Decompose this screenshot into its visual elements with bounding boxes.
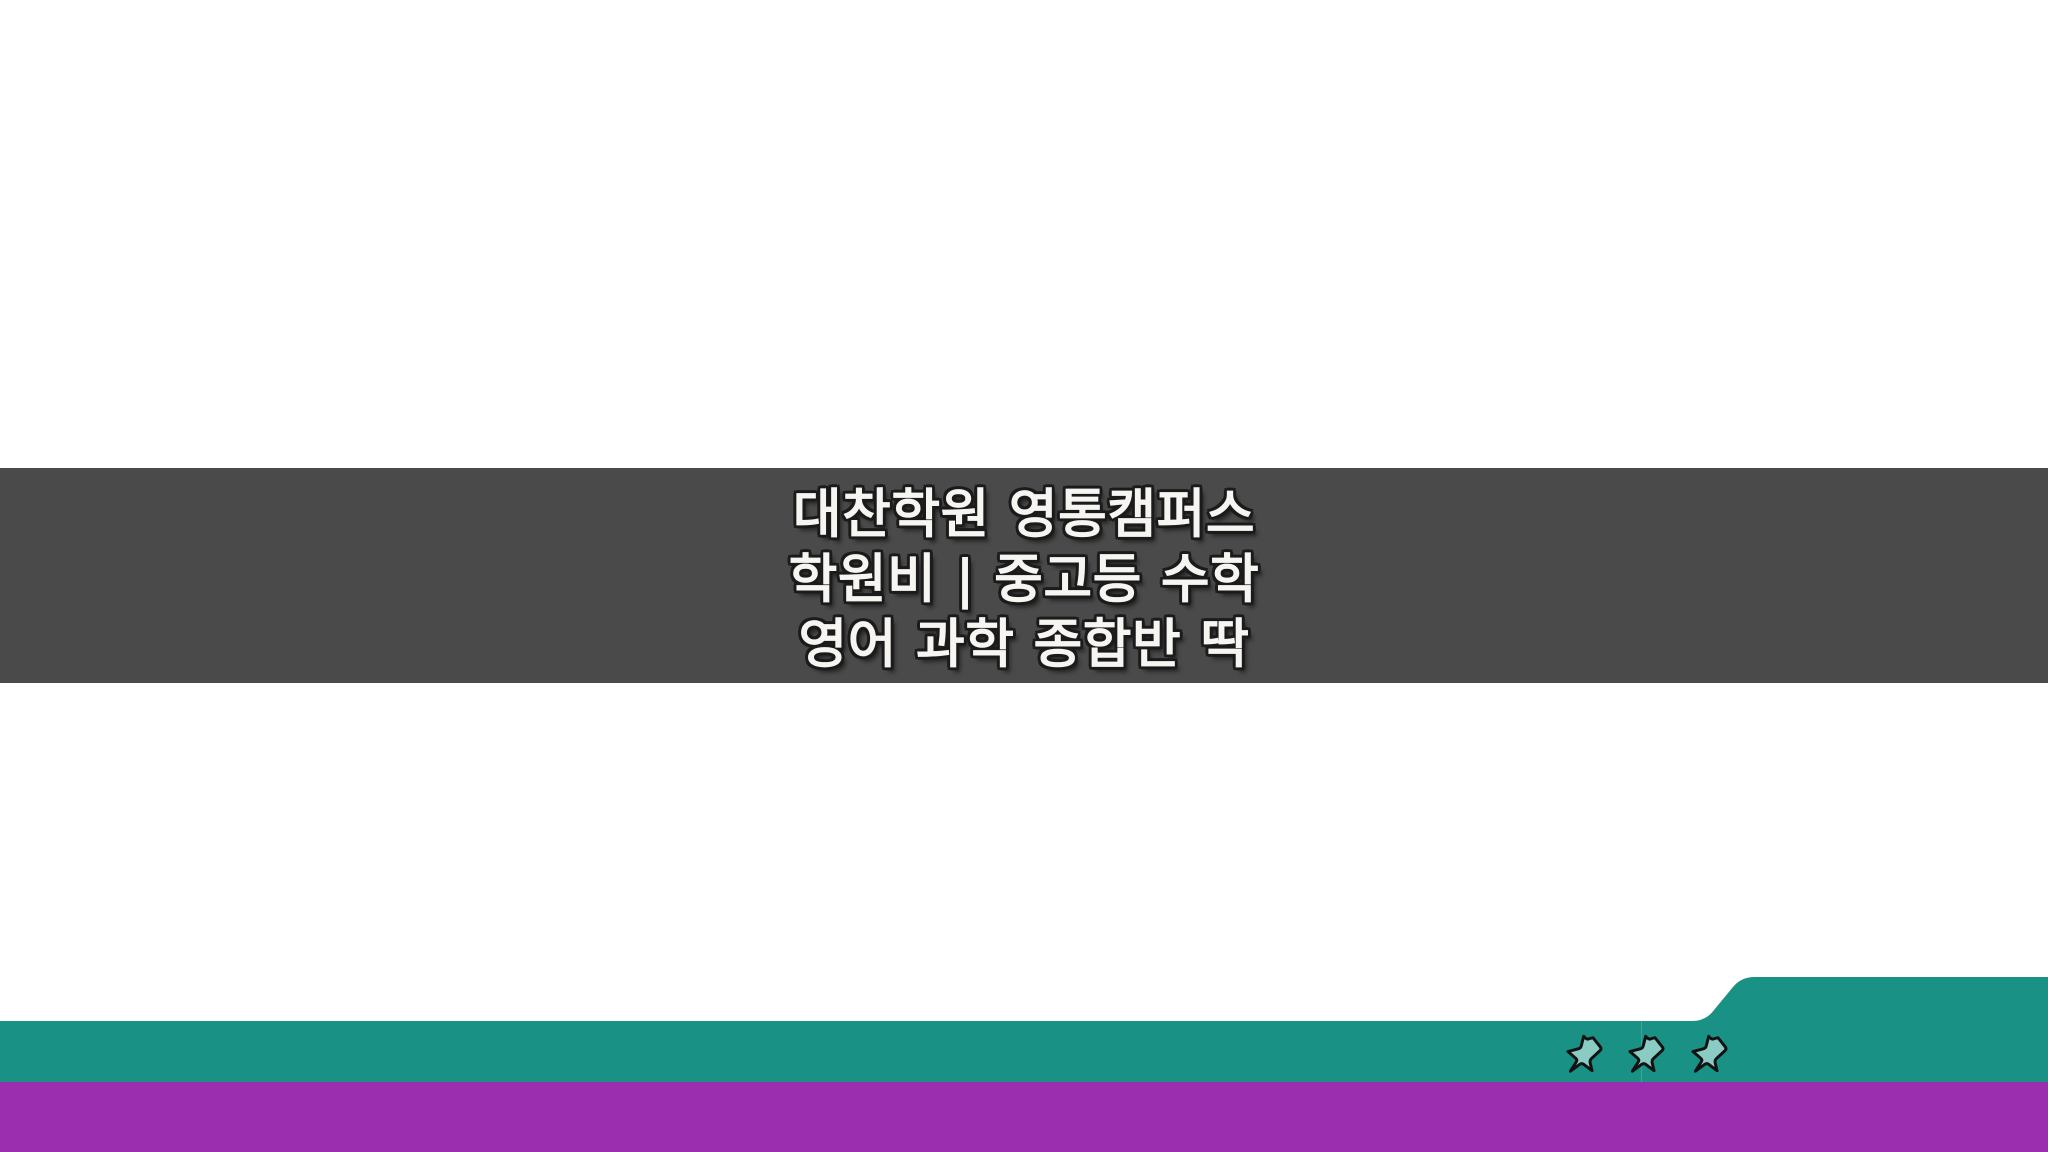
purple-accent-band [0,1082,2048,1152]
title-line-3: 영어 과학 종합반 딱 [0,612,2048,677]
title-line-1: 대찬학원 영통캠퍼스 [0,482,2048,547]
sparkle-icon-row [1563,1030,1731,1076]
sparkle-icon [1563,1031,1606,1075]
sparkle-icon [1625,1031,1668,1075]
teal-accent-band [0,960,2048,1082]
title-line-2: 학원비 | 중고등 수학 [0,547,2048,612]
footer-decoration [0,960,2048,1152]
sparkle-icon [1688,1031,1731,1075]
title-banner: 대찬학원 영통캠퍼스 학원비 | 중고등 수학 영어 과학 종합반 딱 [0,468,2048,683]
title-text-block: 대찬학원 영통캠퍼스 학원비 | 중고등 수학 영어 과학 종합반 딱 [0,468,2048,677]
teal-band-shape [0,960,2048,1082]
page-root: 대찬학원 영통캠퍼스 학원비 | 중고등 수학 영어 과학 종합반 딱 [0,0,2048,1152]
